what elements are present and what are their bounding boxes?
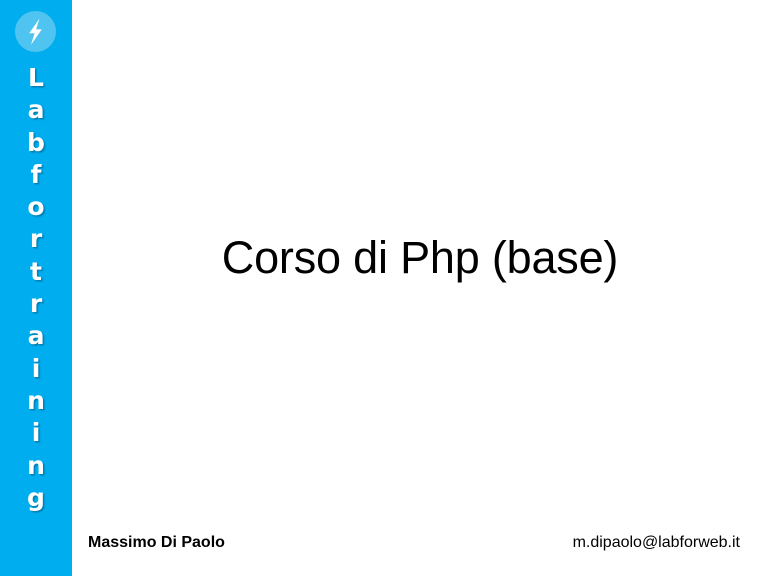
- brand-letter: n: [0, 385, 72, 417]
- brand-letter: n: [0, 450, 72, 482]
- brand-letter: i: [0, 353, 72, 385]
- lightning-bolt-icon: [15, 11, 56, 52]
- brand-letter: f: [0, 159, 72, 191]
- slide-title: Corso di Php (base): [72, 232, 768, 284]
- brand-letter: b: [0, 127, 72, 159]
- footer-author: Massimo Di Paolo: [88, 533, 225, 553]
- brand-letter: L: [0, 62, 72, 94]
- brand-sidebar: L a b f o r t r a i n i n g: [0, 0, 72, 576]
- brand-letter: o: [0, 191, 72, 223]
- brand-letter: i: [0, 417, 72, 449]
- brand-vertical-wordmark: L a b f o r t r a i n i n g: [0, 62, 72, 514]
- brand-letter: a: [0, 320, 72, 352]
- slide-content-area: Corso di Php (base): [72, 0, 768, 576]
- brand-letter: r: [0, 223, 72, 255]
- brand-letter: r: [0, 288, 72, 320]
- brand-letter: a: [0, 94, 72, 126]
- brand-letter: t: [0, 256, 72, 288]
- brand-letter: g: [0, 482, 72, 514]
- footer-email: m.dipaolo@labforweb.it: [573, 533, 740, 553]
- presentation-slide: L a b f o r t r a i n i n g Corso di Php…: [0, 0, 768, 576]
